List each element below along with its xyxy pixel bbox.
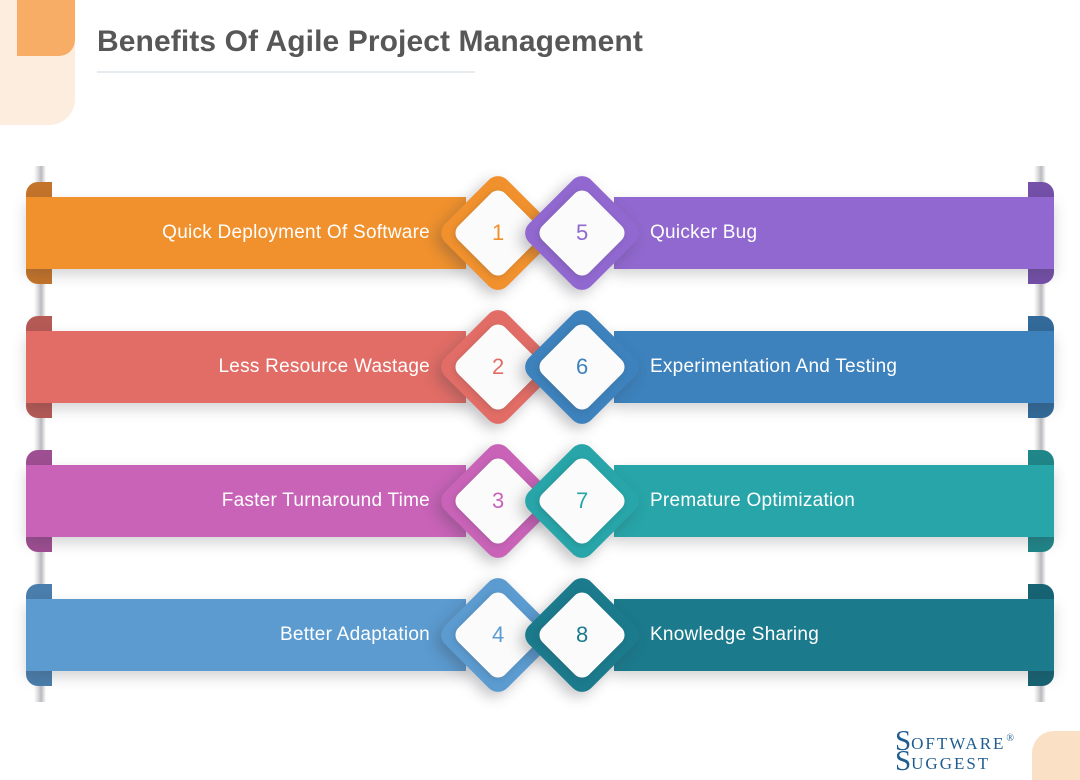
benefit-number-badge: 5 [520, 171, 644, 295]
softwaresuggest-logo: S OFTWARE ® S UGGEST [895, 727, 1013, 776]
benefit-number: 6 [576, 356, 588, 378]
benefit-item-8[interactable]: Knowledge Sharing 8 [534, 568, 1054, 702]
logo-line-1: S OFTWARE ® [895, 727, 1013, 756]
benefit-bar[interactable]: Knowledge Sharing [614, 599, 1054, 671]
benefit-item-6[interactable]: Experimentation And Testing 6 [534, 300, 1054, 434]
benefit-bar[interactable]: Experimentation And Testing [614, 331, 1054, 403]
title-underline-rule [97, 71, 475, 73]
benefit-number: 8 [576, 624, 588, 646]
benefits-column-left: Quick Deployment Of Software 1 Less Reso… [26, 166, 546, 706]
logo-word-suggest: UGGEST [911, 755, 990, 772]
benefit-label: Premature Optimization [650, 490, 855, 512]
infographic-canvas: Benefits Of Agile Project Management Qui… [0, 0, 1080, 780]
benefit-bar[interactable]: Better Adaptation [26, 599, 466, 671]
benefit-number-badge: 7 [520, 439, 644, 563]
benefit-number: 2 [492, 356, 504, 378]
benefit-bar[interactable]: Premature Optimization [614, 465, 1054, 537]
logo-word-software: OFTWARE [911, 735, 1005, 752]
logo-capital-s-bottom: S [895, 747, 911, 776]
benefit-bar[interactable]: Faster Turnaround Time [26, 465, 466, 537]
benefit-label: Knowledge Sharing [650, 624, 819, 646]
benefit-item-3[interactable]: Faster Turnaround Time 3 [26, 434, 546, 568]
header: Benefits Of Agile Project Management [97, 22, 997, 73]
benefit-label: Less Resource Wastage [218, 356, 430, 378]
decorative-orange-block-top-left [17, 0, 75, 56]
benefit-label: Quicker Bug [650, 222, 757, 244]
benefit-number-badge: 6 [520, 305, 644, 429]
benefit-item-7[interactable]: Premature Optimization 7 [534, 434, 1054, 568]
benefits-column-right: Quicker Bug 5 Experimentation And Testin… [534, 166, 1054, 706]
benefit-label: Experimentation And Testing [650, 356, 897, 378]
benefit-item-1[interactable]: Quick Deployment Of Software 1 [26, 166, 546, 300]
decorative-peach-block-bottom-right [1032, 731, 1080, 780]
benefit-number: 3 [492, 490, 504, 512]
page-title: Benefits Of Agile Project Management [97, 22, 997, 62]
benefit-number: 4 [492, 624, 504, 646]
benefit-label: Quick Deployment Of Software [162, 222, 430, 244]
benefit-number: 5 [576, 222, 588, 244]
benefit-item-2[interactable]: Less Resource Wastage 2 [26, 300, 546, 434]
benefit-number: 1 [492, 222, 504, 244]
benefits-board: Quick Deployment Of Software 1 Less Reso… [0, 166, 1080, 706]
benefit-bar[interactable]: Quick Deployment Of Software [26, 197, 466, 269]
benefit-item-5[interactable]: Quicker Bug 5 [534, 166, 1054, 300]
registered-trademark-icon: ® [1006, 734, 1014, 744]
benefit-label: Better Adaptation [280, 624, 430, 646]
benefit-number-badge: 8 [520, 573, 644, 697]
benefit-bar[interactable]: Less Resource Wastage [26, 331, 466, 403]
benefit-label: Faster Turnaround Time [222, 490, 430, 512]
benefit-item-4[interactable]: Better Adaptation 4 [26, 568, 546, 702]
benefit-bar[interactable]: Quicker Bug [614, 197, 1054, 269]
benefit-number: 7 [576, 490, 588, 512]
